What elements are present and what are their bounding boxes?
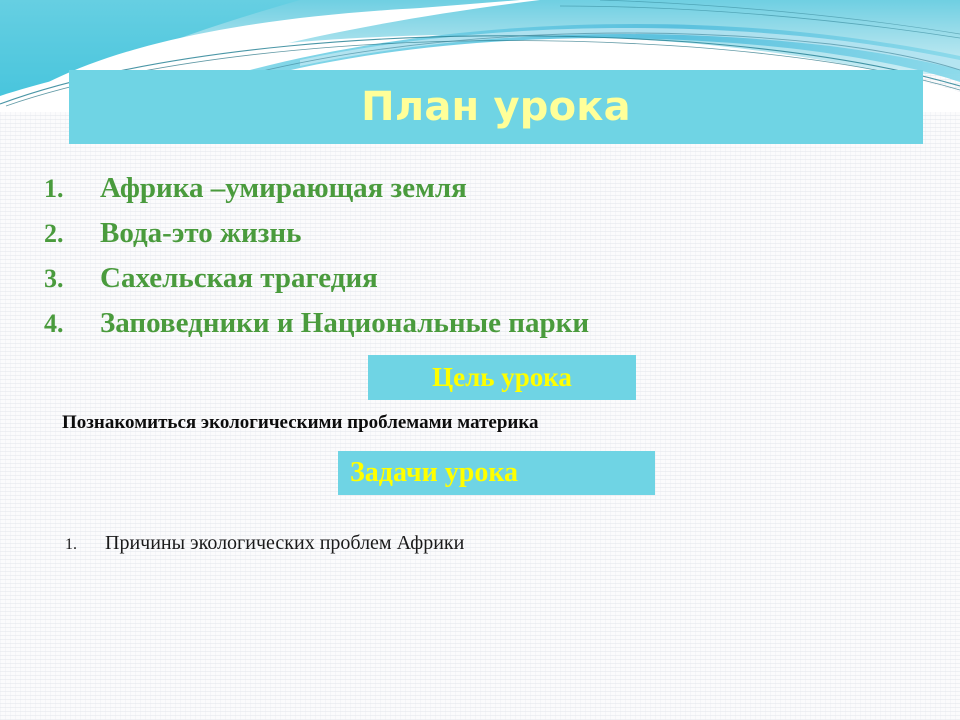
list-item: 4. Заповедники и Национальные парки (44, 301, 924, 346)
list-item-number: 1. (65, 530, 105, 560)
goal-banner: Цель урока (368, 355, 636, 400)
list-item-number: 3. (44, 257, 100, 301)
list-item-number: 4. (44, 302, 100, 346)
list-item: 1. Причины экологических проблем Африки (65, 528, 925, 560)
title-banner: План урока (69, 70, 923, 144)
list-item-number: 1. (44, 167, 100, 211)
list-item: 1. Африка –умирающая земля (44, 166, 924, 211)
tasks-banner-label: Задачи урока (350, 459, 518, 487)
list-item-label: Африка –умирающая земля (100, 166, 467, 210)
slide-canvas: План урока 1. Африка –умирающая земля 2.… (0, 0, 960, 720)
list-item: 2. Вода-это жизнь (44, 211, 924, 256)
list-item-label: Заповедники и Национальные парки (100, 301, 589, 345)
goal-banner-label: Цель урока (432, 364, 572, 391)
list-item-label: Сахельская трагедия (100, 256, 378, 300)
tasks-list: 1. Причины экологических проблем Африки (65, 528, 925, 560)
goal-description: Познакомиться экологическими проблемами … (62, 410, 922, 436)
list-item-label: Вода-это жизнь (100, 211, 301, 255)
list-item-number: 2. (44, 212, 100, 256)
list-item: 3. Сахельская трагедия (44, 256, 924, 301)
list-item-label: Причины экологических проблем Африки (105, 528, 464, 558)
tasks-banner: Задачи урока (338, 451, 655, 495)
plan-list: 1. Африка –умирающая земля 2. Вода-это ж… (44, 166, 924, 346)
page-title: План урока (361, 87, 631, 127)
